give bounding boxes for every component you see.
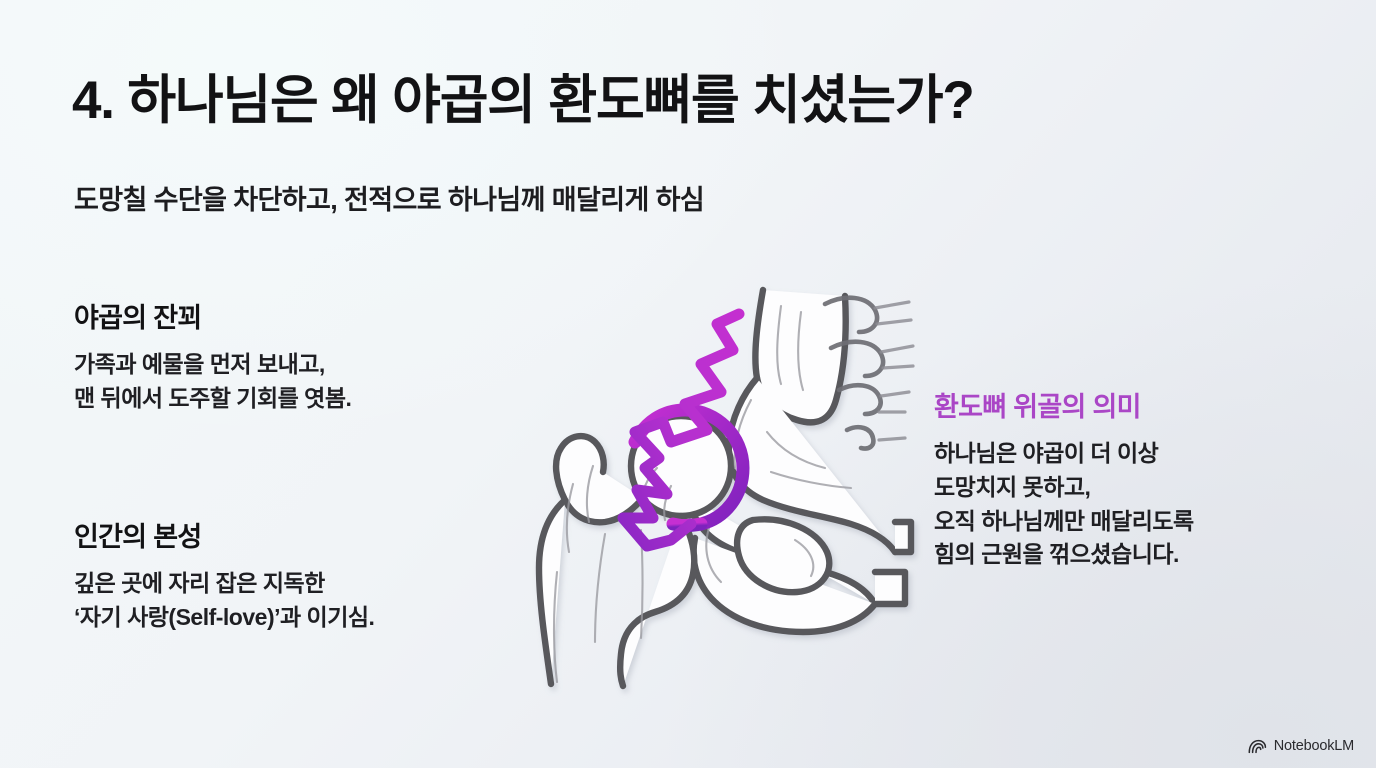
notebooklm-label: NotebookLM [1274,738,1354,754]
block-heading: 인간의 본성 [74,515,374,554]
block-line: 가족과 예물을 먼저 보내고, [74,348,351,382]
block-heading-accent: 환도뼈 위골의 의미 [934,385,1194,424]
notebooklm-arcs-icon [1248,739,1267,754]
text-block-jacob-cunning: 야곱의 잔꾀 가족과 예물을 먼저 보내고, 맨 뒤에서 도주할 기회를 엿봄. [74,296,351,416]
text-block-fracture-meaning: 환도뼈 위골의 의미 하나님은 야곱이 더 이상 도망치지 못하고, 오직 하나… [934,385,1194,572]
block-line: ‘자기 사랑(Self-love)’과 이기심. [74,601,374,635]
text-block-human-nature: 인간의 본성 깊은 곳에 자리 잡은 지독한 ‘자기 사랑(Self-love)… [74,515,374,635]
block-line: 맨 뒤에서 도주할 기회를 엿봄. [74,382,351,416]
block-heading: 야곱의 잔꾀 [74,296,351,335]
block-line: 힘의 근원을 꺾으셨습니다. [934,538,1194,572]
block-line: 하나님은 야곱이 더 이상 [934,437,1194,471]
block-line: 깊은 곳에 자리 잡은 지독한 [74,567,374,601]
block-line: 오직 하나님께만 매달리도록 [934,505,1194,539]
block-line: 도망치지 못하고, [934,471,1194,505]
notebooklm-brand: NotebookLM [1248,738,1354,754]
slide-root: 4. 하나님은 왜 야곱의 환도뼈를 치셨는가? 도망칠 수단을 차단하고, 전… [0,0,1376,768]
page-subtitle: 도망칠 수단을 차단하고, 전적으로 하나님께 매달리게 하심 [74,178,704,217]
page-title: 4. 하나님은 왜 야곱의 환도뼈를 치셨는가? [72,72,974,129]
hip-joint-fracture-illustration [495,272,925,702]
